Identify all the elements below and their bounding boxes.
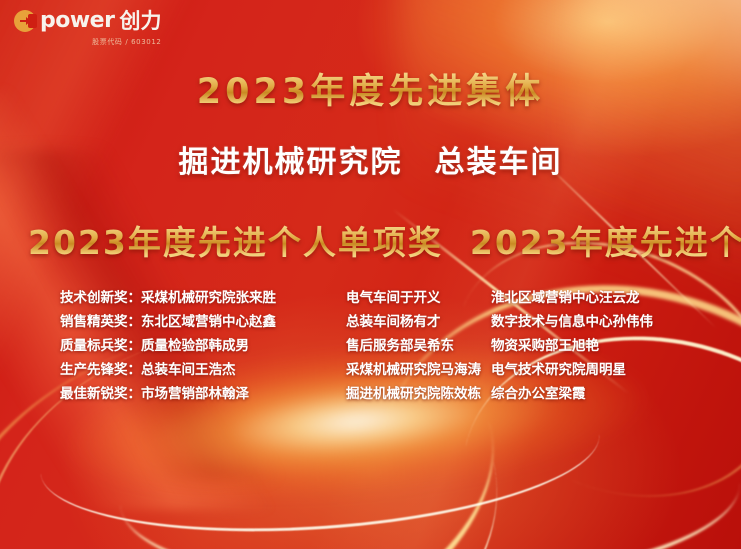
list-item: 最佳新锐奖：市场营销部林翰泽 (60, 382, 340, 406)
c-arrow-logo-icon (14, 10, 36, 32)
list-item: 售后服务部吴希东 物资采购部王旭艳 (346, 334, 741, 358)
person-name: 电气车间于开义 (346, 286, 491, 310)
winner-lists: 技术创新奖：采煤机械研究院张来胜 销售精英奖：东北区域营销中心赵鑫 质量标兵奖：… (0, 286, 741, 406)
page-title: 2023年度先进集体 (0, 63, 741, 114)
collective-winners-subtitle: 掘进机械研究院 总装车间 (0, 137, 741, 181)
arrow-right-icon (20, 17, 31, 25)
person-name: 数字技术与信息中心孙伟伟 (491, 310, 653, 334)
list-item: 质量标兵奖：质量检验部韩成男 (60, 334, 340, 358)
award-poster: power 创力 股票代码 / 603012 2023年度先进集体 掘进机械研究… (0, 0, 741, 549)
person-name: 淮北区域营销中心汪云龙 (491, 286, 640, 310)
heading-special-awards: 2023年度先进个人单项奖 (28, 216, 443, 264)
stock-code-label: 股票代码 / 603012 (14, 37, 161, 47)
list-item: 采煤机械研究院马海涛 电气技术研究院周明星 (346, 358, 741, 382)
special-awards-list: 技术创新奖：采煤机械研究院张来胜 销售精英奖：东北区域营销中心赵鑫 质量标兵奖：… (0, 286, 340, 406)
list-item: 生产先锋奖：总装车间王浩杰 (60, 358, 340, 382)
poster-content: 2023年度先进集体 掘进机械研究院 总装车间 2023年度先进个人单项奖 20… (0, 0, 741, 549)
logo-wordmark-cn: 创力 (119, 11, 161, 32)
list-item: 技术创新奖：采煤机械研究院张来胜 (60, 286, 340, 310)
person-name: 物资采购部王旭艳 (491, 334, 599, 358)
list-item: 销售精英奖：东北区域营销中心赵鑫 (60, 310, 340, 334)
logo-wordmark: power (40, 10, 114, 32)
brand-logo: power 创力 股票代码 / 603012 (14, 10, 161, 47)
list-item: 电气车间于开义 淮北区域营销中心汪云龙 (346, 286, 741, 310)
list-item: 总装车间杨有才 数字技术与信息中心孙伟伟 (346, 310, 741, 334)
person-name: 电气技术研究院周明星 (491, 358, 626, 382)
heading-advanced-individuals: 2023年度先进个人 (470, 216, 741, 264)
list-item: 掘进机械研究院陈效栋 综合办公室梁霞 (346, 382, 741, 406)
person-name: 采煤机械研究院马海涛 (346, 358, 491, 382)
person-name: 掘进机械研究院陈效栋 (346, 382, 491, 406)
section-headings: 2023年度先进个人单项奖 2023年度先进个人 (0, 216, 741, 264)
person-name: 总装车间杨有才 (346, 310, 491, 334)
person-name: 售后服务部吴希东 (346, 334, 491, 358)
logo-row: power 创力 (14, 10, 161, 32)
advanced-individuals-list: 电气车间于开义 淮北区域营销中心汪云龙 总装车间杨有才 数字技术与信息中心孙伟伟… (340, 286, 741, 406)
person-name: 综合办公室梁霞 (491, 382, 586, 406)
